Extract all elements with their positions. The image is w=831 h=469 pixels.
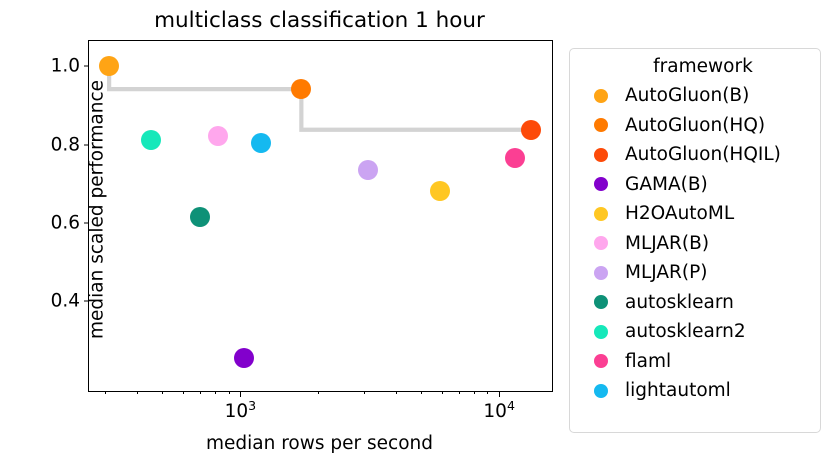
scatter-point-autosklearn2 [141, 130, 161, 150]
legend-color-swatch-icon [594, 118, 608, 132]
y-tick-label: 0.6 [51, 212, 80, 233]
x-tick-label: 104 [483, 401, 515, 422]
legend-item-mljarb[interactable]: MLJAR(B) [570, 229, 820, 259]
legend-item-label: AutoGluon(B) [625, 85, 749, 106]
x-tick-minor-mark [162, 391, 163, 394]
legend-item-label: H2OAutoML [625, 203, 734, 224]
plot-inner [89, 41, 552, 391]
x-tick-minor-mark [474, 391, 475, 394]
legend-color-swatch-icon [594, 325, 608, 339]
legend-item-label: MLJAR(B) [625, 233, 709, 254]
legend-item-label: autosklearn [625, 292, 734, 313]
scatter-point-lightautoml [251, 133, 271, 153]
legend-item-label: autosklearn2 [625, 321, 746, 342]
x-tick-minor-mark [137, 391, 138, 394]
legend-title: framework [570, 56, 820, 77]
scatter-point-autogluonb [99, 56, 119, 76]
legend-color-swatch-icon [594, 384, 608, 398]
scatter-point-autogluonhq [291, 79, 311, 99]
scatter-point-autogluonhqil [521, 120, 541, 140]
legend-item-label: MLJAR(P) [625, 262, 708, 283]
x-tick-minor-mark [396, 391, 397, 394]
legend-item-lightautoml[interactable]: lightautoml [570, 376, 820, 406]
legend-item-label: GAMA(B) [625, 174, 708, 195]
y-tick-label: 0.8 [51, 134, 80, 155]
x-tick-minor-mark [442, 391, 443, 394]
scatter-point-mljarp [358, 160, 378, 180]
y-tick-mark [84, 301, 90, 302]
legend-color-swatch-icon [594, 354, 608, 368]
legend-color-swatch-icon [594, 236, 608, 250]
legend-item-autosklearn[interactable]: autosklearn [570, 288, 820, 318]
legend-color-swatch-icon [594, 89, 608, 103]
x-tick-minor-mark [487, 391, 488, 394]
x-tick-minor-mark [318, 391, 319, 394]
x-tick-minor-mark [200, 391, 201, 394]
x-tick-label: 103 [225, 401, 257, 422]
x-tick-minor-mark [215, 391, 216, 394]
scatter-point-gamab [234, 348, 254, 368]
x-tick-mark [499, 391, 500, 397]
legend-entries: AutoGluon(B)AutoGluon(HQ)AutoGluon(HQIL)… [570, 81, 820, 406]
scatter-chart-figure: multiclass classification 1 hour median … [0, 0, 831, 469]
y-tick-mark [84, 66, 90, 67]
scatter-point-mljarb [208, 126, 228, 146]
legend-item-mljarp[interactable]: MLJAR(P) [570, 258, 820, 288]
legend-item-autogluonb[interactable]: AutoGluon(B) [570, 81, 820, 111]
legend-color-swatch-icon [594, 207, 608, 221]
legend-item-label: flaml [625, 351, 671, 372]
x-tick-minor-mark [229, 391, 230, 394]
legend-color-swatch-icon [594, 148, 608, 162]
legend-item-label: lightautoml [625, 380, 731, 401]
legend-item-gamab[interactable]: GAMA(B) [570, 170, 820, 200]
legend-item-autogluonhq[interactable]: AutoGluon(HQ) [570, 111, 820, 141]
legend-color-swatch-icon [594, 266, 608, 280]
legend-item-autosklearn2[interactable]: autosklearn2 [570, 317, 820, 347]
legend-item-autogluonhqil[interactable]: AutoGluon(HQIL) [570, 140, 820, 170]
scatter-point-autosklearn [190, 207, 210, 227]
scatter-point-h2oautoml [430, 181, 450, 201]
y-tick-mark [84, 144, 90, 145]
x-axis-label: median rows per second [88, 433, 551, 454]
y-tick-label: 1.0 [51, 56, 80, 77]
legend-item-label: AutoGluon(HQIL) [625, 144, 781, 165]
legend-color-swatch-icon [594, 295, 608, 309]
pareto-frontier-line [89, 41, 552, 391]
x-tick-minor-mark [183, 391, 184, 394]
legend-item-flaml[interactable]: flaml [570, 347, 820, 377]
y-tick-mark [84, 222, 90, 223]
legend-item-h2oautoml[interactable]: H2OAutoML [570, 199, 820, 229]
x-tick-minor-mark [105, 391, 106, 394]
legend-box: framework AutoGluon(B)AutoGluon(HQ)AutoG… [569, 48, 821, 433]
x-tick-minor-mark [459, 391, 460, 394]
x-tick-mark [240, 391, 241, 397]
legend-color-swatch-icon [594, 177, 608, 191]
y-tick-label: 0.4 [51, 291, 80, 312]
plot-area: median scaled performance 1.00.80.60.4 1… [88, 40, 553, 392]
x-tick-minor-mark [421, 391, 422, 394]
legend-item-label: AutoGluon(HQ) [625, 115, 765, 136]
page-title: multiclass classification 1 hour [88, 6, 551, 36]
x-tick-minor-mark [364, 391, 365, 394]
scatter-point-flaml [505, 148, 525, 168]
